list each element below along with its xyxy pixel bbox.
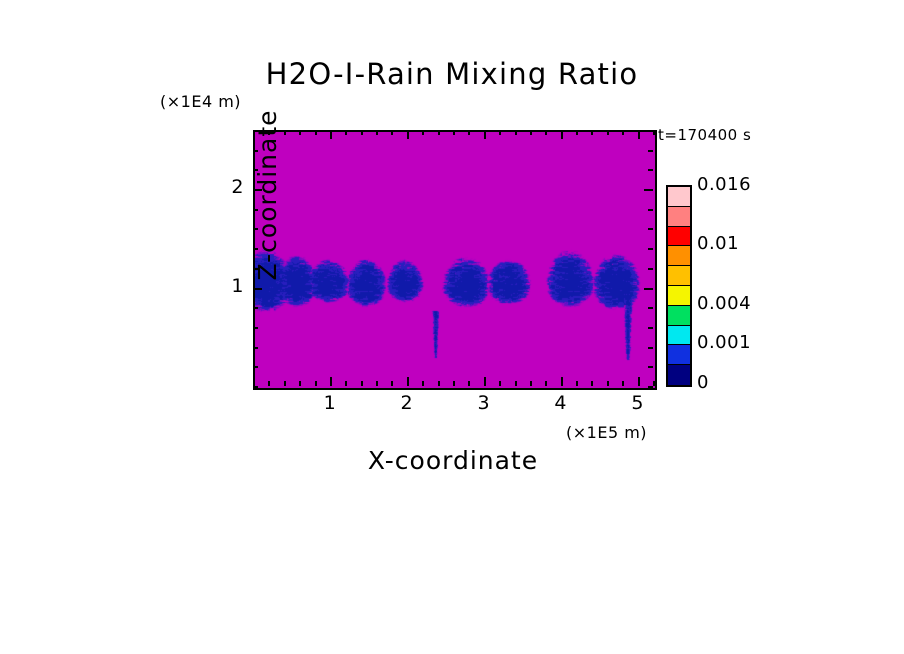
x-tick [407, 377, 409, 386]
y-tick-right [648, 347, 653, 349]
y-tick-right [648, 248, 653, 250]
y-tick [253, 366, 258, 368]
x-tick [361, 381, 363, 386]
x-tick [284, 381, 286, 386]
x-tick-top [468, 130, 470, 135]
x-tick [453, 381, 455, 386]
x-tick [545, 381, 547, 386]
colorbar-band [668, 365, 690, 385]
colorbar-band [668, 266, 690, 286]
x-tick-top [515, 130, 517, 135]
x-tick [622, 381, 624, 386]
y-tick-right [648, 366, 653, 368]
x-tick [591, 381, 593, 386]
x-tick-top [591, 130, 593, 135]
x-tick [515, 381, 517, 386]
x-tick-top [345, 130, 347, 135]
x-tick-top [453, 130, 455, 135]
colorbar-band [668, 246, 690, 266]
y-tick-right [648, 307, 653, 309]
x-tick [484, 377, 486, 386]
x-tick [468, 381, 470, 386]
y-tick-right [648, 386, 653, 388]
colorbar-tick-label: 0.01 [697, 233, 739, 254]
y-tick [253, 327, 258, 329]
y-tick-right [644, 288, 653, 290]
x-axis-title: X-coordinate [253, 446, 653, 475]
x-tick-top [607, 130, 609, 135]
time-annotation: t=170400 s [658, 126, 751, 144]
y-tick-right [648, 150, 653, 152]
x-tick-label: 2 [387, 392, 427, 414]
x-tick [268, 381, 270, 386]
x-tick-top [299, 130, 301, 135]
x-tick [530, 381, 532, 386]
x-tick [576, 381, 578, 386]
y-tick-right [648, 169, 653, 171]
x-tick [330, 377, 332, 386]
y-tick-right [648, 130, 653, 132]
x-tick [653, 381, 655, 386]
x-tick-top [622, 130, 624, 135]
y-tick-right [648, 268, 653, 270]
y-tick-label: 2 [206, 176, 244, 198]
x-tick-top [376, 130, 378, 135]
x-tick [499, 381, 501, 386]
y-tick-label: 1 [206, 275, 244, 297]
heatmap-canvas [255, 132, 655, 388]
x-tick-top [407, 130, 409, 139]
colorbar-tick-label: 0.016 [697, 174, 751, 195]
x-tick-top [438, 130, 440, 135]
colorbar-tick-label: 0 [697, 372, 709, 393]
x-axis-unit-label: (×1E5 m) [566, 423, 647, 442]
y-axis-unit-label: (×1E4 m) [160, 92, 241, 111]
x-tick-top [638, 130, 640, 139]
x-tick-top [545, 130, 547, 135]
y-tick-right [644, 189, 653, 191]
y-tick-right [648, 327, 653, 329]
colorbar-tick-label: 0.001 [697, 332, 751, 353]
x-tick-label: 1 [310, 392, 350, 414]
page-title: H2O-I-Rain Mixing Ratio [0, 57, 904, 91]
x-tick [376, 381, 378, 386]
y-tick-right [648, 209, 653, 211]
figure-canvas: H2O-I-Rain Mixing Ratio (×1E4 m) t=17040… [0, 0, 904, 654]
x-tick-top [330, 130, 332, 139]
x-tick-top [391, 130, 393, 135]
y-axis-title: Z-coordinate [248, 95, 288, 295]
x-tick-top [484, 130, 486, 139]
x-tick-top [499, 130, 501, 135]
x-tick-top [361, 130, 363, 135]
y-tick [253, 347, 258, 349]
x-tick-top [422, 130, 424, 135]
x-tick-label: 4 [541, 392, 581, 414]
y-tick [253, 307, 258, 309]
colorbar-band [668, 326, 690, 346]
x-tick-top [530, 130, 532, 135]
colorbar-band [668, 286, 690, 306]
x-tick-top [561, 130, 563, 139]
x-tick [607, 381, 609, 386]
x-tick-top [653, 130, 655, 135]
plot-area [253, 130, 657, 390]
x-tick [391, 381, 393, 386]
x-tick [638, 377, 640, 386]
x-tick [299, 381, 301, 386]
y-tick-right [648, 228, 653, 230]
x-tick [561, 377, 563, 386]
x-tick [438, 381, 440, 386]
y-tick [253, 386, 258, 388]
colorbar-band [668, 345, 690, 365]
colorbar-band [668, 207, 690, 227]
colorbar-tick-label: 0.004 [697, 293, 751, 314]
x-tick [345, 381, 347, 386]
x-tick-top [576, 130, 578, 135]
colorbar [666, 185, 692, 387]
x-tick-label: 5 [618, 392, 658, 414]
colorbar-band [668, 187, 690, 207]
colorbar-band [668, 227, 690, 247]
colorbar-band [668, 306, 690, 326]
x-tick [422, 381, 424, 386]
x-tick-label: 3 [464, 392, 504, 414]
chart-title-text: H2O-I-Rain Mixing Ratio [266, 57, 639, 91]
x-tick-top [315, 130, 317, 135]
x-tick [315, 381, 317, 386]
